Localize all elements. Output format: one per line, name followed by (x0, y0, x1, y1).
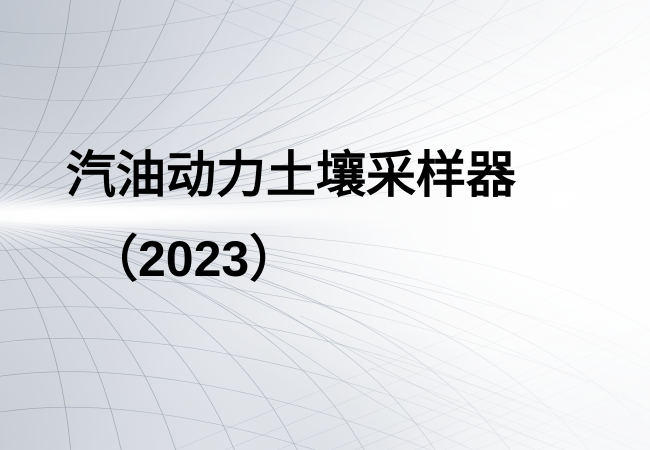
slide-title-primary: 汽油动力土壤采样器 (66, 150, 516, 200)
title-block: 汽油动力土壤采样器 （2023） (0, 0, 650, 450)
slide-canvas: 汽油动力土壤采样器 （2023） (0, 0, 650, 450)
slide-title-year: （2023） (88, 234, 299, 284)
